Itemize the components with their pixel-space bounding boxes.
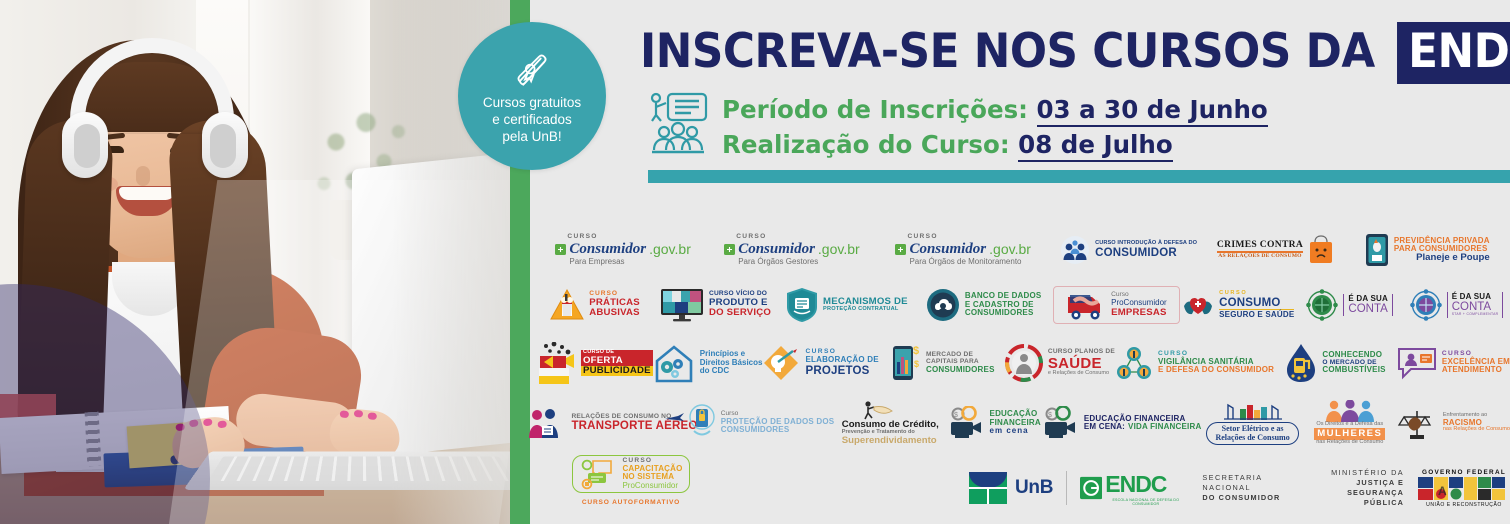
health-wheel-icon <box>1005 344 1043 382</box>
headline-text: INSCREVA-SE NOS CURSOS DA <box>640 24 1375 79</box>
fuel-pump-icon <box>1285 342 1317 384</box>
airplane-icon <box>664 412 686 424</box>
senacon-line-2: DO CONSUMIDOR <box>1202 493 1298 503</box>
course-proconsumidor-empresas[interactable]: Curso ProConsumidor EMPRESAS <box>1053 286 1181 324</box>
endc-logo: ENDC ESCOLA NACIONAL DE DEFESA DO CONSUM… <box>1080 471 1186 506</box>
course-title-2: ABUSIVAS <box>589 308 640 318</box>
course-sub: Para Empresas <box>569 258 690 266</box>
course-row-4: RELAÇÕES DE CONSUMO NO TRANSPORTE AÉREO … <box>538 394 1510 452</box>
course-title-2: Relações de Consumo <box>1215 434 1289 442</box>
ministry-line-2: JUSTIÇA E <box>1318 478 1404 488</box>
diploma-scroll-icon <box>511 48 553 90</box>
course-title-2: ATENDIMENTO <box>1442 366 1510 374</box>
sanitary-network-icon <box>1115 344 1153 382</box>
course-mecanismos-protecao-contratual[interactable]: MECANISMOS DE PROTEÇÃO CONTRATUAL <box>779 287 915 323</box>
course-title-2: PROJETOS <box>805 365 878 377</box>
gov-federal-logo: GOVERNO FEDERAL A UNIÃO E RECON <box>1418 469 1510 508</box>
course-consumo-credito-superendividamento[interactable]: Consumo de Crédito, Prevenção e Tratamen… <box>834 400 947 446</box>
svg-text:$: $ <box>914 359 919 369</box>
footer-separator-1 <box>1066 471 1067 505</box>
course-sub: STAR + COMPLEMENTAR <box>1452 313 1499 317</box>
course-crimes-contra-relacoes-consumo[interactable]: CRIMES CONTRA AS RELAÇÕES DE CONSUMO <box>1206 235 1344 265</box>
unb-logo: UnB <box>968 471 1053 505</box>
course-conhecendo-mercado-combustiveis[interactable]: CONHECENDO O MERCADO DE COMBUSTÍVEIS <box>1274 342 1397 384</box>
course-date-label: Realização do Curso: <box>722 130 1010 159</box>
handshake-truck-icon <box>1066 289 1106 321</box>
brasil-wordmark: A <box>1418 477 1510 501</box>
shopping-bag-sad-icon <box>1308 235 1334 265</box>
headphones-pad-right <box>210 124 236 168</box>
svg-text:$: $ <box>913 345 919 357</box>
course-educacao-financeira-vida-financeira[interactable]: $ EDUCAÇÃO FINANCEIRA EM CENA: VIDA FINA… <box>1041 406 1202 440</box>
course-title: Consumidor <box>738 241 815 258</box>
passengers-plane-icon <box>528 406 566 440</box>
student-photo <box>0 0 512 524</box>
endc-label: ENDC <box>1105 471 1186 498</box>
course-sub: Planeje e Poupe <box>1394 253 1490 263</box>
student-teeth <box>119 187 175 200</box>
course-title-3: VIDA FINANCEIRA <box>1128 423 1201 431</box>
lightbulb-pencil-icon <box>762 344 800 382</box>
course-title-3: CONSUMIDORES <box>965 309 1042 317</box>
course-title: É DA SUA <box>1452 293 1499 301</box>
course-sub: PROTEÇÃO CONTRATUAL <box>823 307 908 313</box>
course-consumidor-empresas[interactable]: CURSO Consumidor .gov.br Para Empresas <box>538 234 708 266</box>
course-title-2: CONSUMIDORES <box>721 426 835 434</box>
consumidor-gov-icon <box>724 244 735 255</box>
course-title-3: CONSUMIDORES <box>926 366 995 374</box>
globe-blue-icon <box>1410 289 1442 321</box>
free-courses-badge: Cursos gratuitos e certificados pela UnB… <box>458 22 606 170</box>
institutional-footer: UnB ENDC ESCOLA NACIONAL DE DEFESA DO CO… <box>968 462 1510 514</box>
chat-service-icon <box>1397 346 1437 380</box>
course-title-2: EMPRESAS <box>1111 308 1167 318</box>
course-title-2: EM CENA: <box>1084 423 1125 431</box>
film-camera-money-icon: $ <box>1041 406 1079 440</box>
course-domain: .gov.br <box>818 241 860 257</box>
svg-text:$: $ <box>954 412 958 419</box>
registration-period-value: 03 a 30 de Junho <box>1037 95 1268 127</box>
course-protecao-dados-consumidores[interactable]: Curso PROTEÇÃO DE DADOS DOS CONSUMIDORES <box>688 403 834 443</box>
headline-highlight-endc: ENDC <box>1397 22 1510 84</box>
course-oferta-publicidade[interactable]: CURSO DE OFERTA PUBLICIDADE <box>538 342 653 384</box>
gov-federal-bottom-label: UNIÃO E RECONSTRUÇÃO <box>1418 502 1510 508</box>
course-title: ELABORAÇÃO DE <box>805 356 878 364</box>
course-title: CONSUMO <box>1219 297 1294 309</box>
course-domain: .gov.br <box>989 241 1031 257</box>
people-group-icon <box>1060 235 1090 265</box>
promotional-banner: Cursos gratuitos e certificados pela UnB… <box>0 0 1510 524</box>
course-sub: nas Relações de Consumo <box>1443 427 1510 433</box>
chat-support-icon <box>579 458 617 490</box>
power-grid-icon <box>1222 401 1284 421</box>
course-e-da-sua-conta-green[interactable]: É DA SUA CONTA <box>1296 289 1403 321</box>
course-sub: Para Órgãos Gestores <box>738 258 859 266</box>
course-consumidor-orgaos-gestores[interactable]: CURSO Consumidor .gov.br Para Órgãos Ges… <box>708 234 875 266</box>
course-title: É DA SUA <box>1348 295 1388 303</box>
senacon-line-1: SECRETARIA NACIONAL <box>1202 473 1298 493</box>
ministry-text: MINISTÉRIO DA JUSTIÇA E SEGURANÇA PÚBLIC… <box>1318 468 1404 508</box>
course-title-2: Superendividamento <box>842 436 939 446</box>
course-setor-eletrico[interactable]: Setor Elétrico e as Relações de Consumo <box>1201 401 1303 445</box>
course-date-row: Realização do Curso: 08 de Julho <box>722 127 1268 162</box>
megaphone-tag-icon <box>538 342 576 384</box>
dates-block: Período de Inscrições: 03 a 30 de Junho … <box>648 92 1268 162</box>
shield-contract-icon <box>786 287 818 323</box>
course-transporte-aereo[interactable]: RELAÇÕES DE CONSUMO NO TRANSPORTE AÉREO <box>538 406 688 440</box>
consumidor-gov-icon <box>895 244 906 255</box>
course-planos-saude[interactable]: CURSO PLANOS DE SAÚDE e Relações de Cons… <box>1005 344 1115 382</box>
course-enfrentamento-racismo[interactable]: Enfrentamento ao RACISMO nas Relações de… <box>1396 405 1510 441</box>
badge-line-1: Cursos gratuitos <box>483 94 581 111</box>
person-debt-icon <box>860 400 894 420</box>
course-kicker: CURSO <box>736 234 859 241</box>
course-capacitacao-proconsumidor[interactable]: CURSO CAPACITAÇÃO NO SISTEMA ProConsumid… <box>556 455 706 507</box>
tv-screen-icon <box>660 288 704 322</box>
teal-rule <box>648 170 1510 183</box>
piggy-bank-phone-icon <box>1365 233 1389 267</box>
course-title-2: DO SERVIÇO <box>709 308 771 318</box>
cloud-user-icon <box>926 288 960 322</box>
course-title: SAÚDE <box>1048 356 1115 372</box>
endc-logo-icon <box>1080 475 1102 501</box>
course-title: Consumidor <box>569 241 646 258</box>
course-educacao-financeira-em-cena[interactable]: $ EDUCAÇÃO FINANCEIRA em cena <box>947 406 1041 440</box>
course-title: CRIMES CONTRA <box>1217 240 1303 250</box>
course-vigilancia-sanitaria[interactable]: CURSO VIGILÂNCIA SANITÁRIA E DEFESA DO C… <box>1115 344 1274 382</box>
endc-sublabel: ESCOLA NACIONAL DE DEFESA DO CONSUMIDOR <box>1105 498 1186 506</box>
unb-label: UnB <box>1015 477 1053 499</box>
course-title-2: PUBLICIDADE <box>581 366 653 376</box>
unb-logo-icon <box>968 471 1008 505</box>
course-sub: Para Órgãos de Monitoramento <box>909 258 1030 266</box>
house-gears-icon <box>653 343 695 383</box>
course-previdencia-privada[interactable]: PREVIDÊNCIA PRIVADA PARA CONSUMIDORES Pl… <box>1345 233 1510 267</box>
course-banco-dados-cadastro-consumidores[interactable]: BANCO DE DADOS E CADASTRO DE CONSUMIDORE… <box>915 288 1053 322</box>
registration-period-label: Período de Inscrições: <box>722 95 1028 124</box>
course-consumo-seguro-saude[interactable]: CURSO CONSUMO SEGURO E SAÚDE <box>1180 290 1296 320</box>
brasil-wordmark-icon: A <box>1418 477 1510 501</box>
course-sub: CURSO AUTOFORMATIVO <box>582 500 680 507</box>
film-camera-money-icon: $ <box>947 406 985 440</box>
globe-green-icon <box>1306 289 1338 321</box>
course-title-2: CONTA <box>1348 303 1388 315</box>
ministry-line-3: SEGURANÇA PÚBLICA <box>1318 488 1404 508</box>
gov-federal-top-label: GOVERNO FEDERAL <box>1418 469 1510 476</box>
course-e-da-sua-conta-blue[interactable]: É DA SUA CONTA STAR + COMPLEMENTAR <box>1403 289 1510 321</box>
course-praticas-abusivas[interactable]: CURSO PRÁTICAS ABUSIVAS <box>538 288 652 322</box>
course-date-value: 08 de Julho <box>1018 130 1173 162</box>
headphones-pad-left <box>74 124 100 168</box>
course-domain: .gov.br <box>649 241 691 257</box>
course-elaboracao-projetos[interactable]: CURSO ELABORAÇÃO DE PROJETOS <box>762 344 878 382</box>
badge-line-3: pela UnB! <box>502 128 561 145</box>
course-title: Consumidor <box>909 241 986 258</box>
course-excelencia-atendimento[interactable]: CURSO EXCELÊNCIA EM ATENDIMENTO <box>1397 346 1510 380</box>
registration-period-row: Período de Inscrições: 03 a 30 de Junho <box>722 92 1268 127</box>
course-vicio-produto-servico[interactable]: CURSO VÍCIO DO PRODUTO E DO SERVIÇO <box>652 288 779 322</box>
svg-text:$: $ <box>1048 412 1052 419</box>
course-title-3: do CDC <box>700 367 763 375</box>
data-lock-phone-icon <box>688 403 716 443</box>
hands-heart-icon <box>1182 290 1214 320</box>
warning-popcorn-icon <box>550 288 584 322</box>
course-consumidor-monitoramento[interactable]: CURSO Consumidor .gov.br Para Órgãos de … <box>876 234 1051 266</box>
course-sub: e Relações de Consumo <box>1048 371 1115 377</box>
consumidor-gov-icon <box>555 244 566 255</box>
course-mercado-capitais-consumidores[interactable]: $ $ MERCADO DE CAPITAIS PARA CONSUMIDORE… <box>879 342 1005 384</box>
ministry-line-1: MINISTÉRIO DA <box>1318 468 1404 478</box>
course-principios-direitos-cdc[interactable]: Princípios e Direitos Básicos do CDC <box>653 343 763 383</box>
course-title-3: ProConsumidor <box>622 482 682 490</box>
phone-chart-icon: $ $ <box>889 342 921 384</box>
course-row-2: CURSO PRÁTICAS ABUSIVAS <box>538 278 1510 332</box>
senacon-text: SECRETARIA NACIONAL DO CONSUMIDOR <box>1202 473 1298 503</box>
headline: INSCREVA-SE NOS CURSOS DA ENDC <box>640 22 1510 84</box>
course-title: CONSUMIDOR <box>1095 247 1197 259</box>
course-title-3: COMBUSTÍVEIS <box>1322 366 1385 374</box>
course-kicker: CURSO <box>567 234 690 241</box>
course-sub: nas Relações de Consumo <box>1314 440 1385 446</box>
course-row-1: CURSO Consumidor .gov.br Para Empresas C… <box>538 222 1510 278</box>
scales-fist-icon <box>1396 405 1438 441</box>
course-title-2: E DEFESA DO CONSUMIDOR <box>1158 366 1274 374</box>
svg-text:A: A <box>1438 484 1447 498</box>
course-sub: SEGURO E SAÚDE <box>1219 309 1294 319</box>
course-row-3: CURSO DE OFERTA PUBLICIDADE Princípios e… <box>538 332 1510 394</box>
course-sub: em cena <box>990 427 1041 435</box>
student-nose <box>136 166 150 186</box>
badge-line-2: e certificados <box>492 111 572 128</box>
course-sub: AS RELAÇÕES DE CONSUMO <box>1217 254 1303 260</box>
course-kicker: CURSO <box>907 234 1030 241</box>
three-women-icon <box>1322 400 1378 422</box>
course-introducao-defesa-consumidor[interactable]: CURSO INTRODUÇÃO À DEFESA DO CONSUMIDOR <box>1051 235 1207 265</box>
course-direitos-defesa-mulheres[interactable]: Os Direitos e a Defesa das MULHERES nas … <box>1304 400 1396 446</box>
presentation-audience-icon <box>648 92 708 158</box>
